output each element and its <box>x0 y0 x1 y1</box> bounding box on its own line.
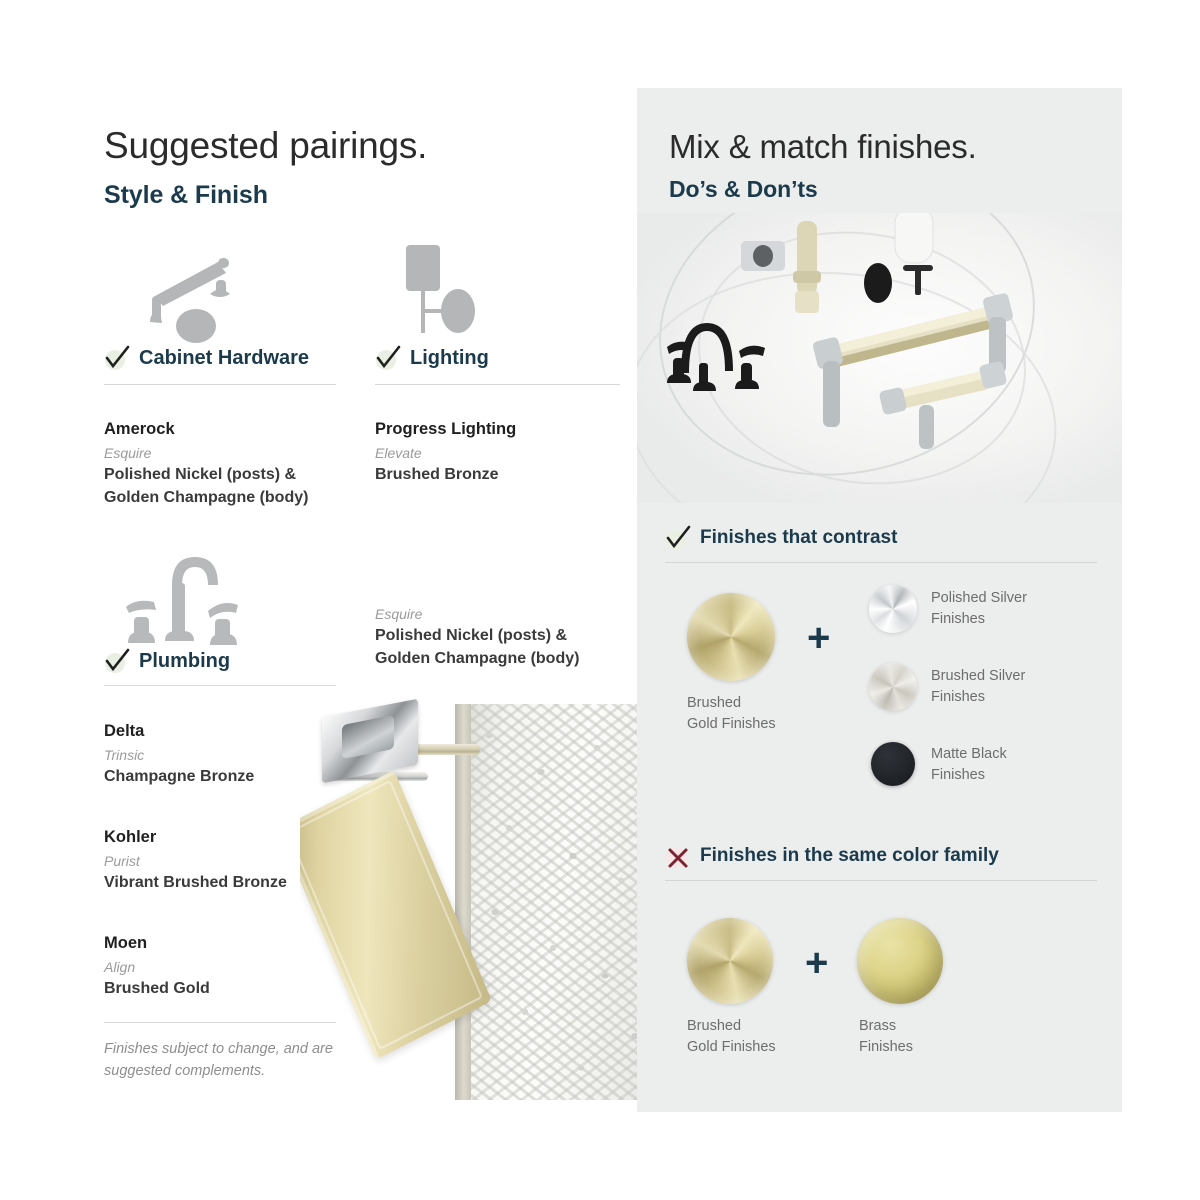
section-label: Finishes that contrast <box>700 527 897 549</box>
brand-series: Elevate <box>375 442 625 464</box>
left-subtitle: Style & Finish <box>104 181 268 210</box>
swatch-caption: Brushed Silver Finishes <box>931 666 1071 708</box>
hero-photo <box>637 213 1122 503</box>
right-panel: Mix & match finishes. Do’s & Don’ts <box>637 88 1122 1112</box>
right-title: Mix & match finishes. <box>669 128 977 166</box>
check-icon <box>375 345 401 371</box>
category-cabinet-hardware[interactable]: Cabinet Hardware <box>104 345 309 371</box>
divider <box>665 562 1097 563</box>
left-title: Suggested pairings. <box>104 125 427 167</box>
brand-amerock: Amerock Esquire Polished Nickel (posts) … <box>104 418 354 510</box>
category-label: Lighting <box>410 347 489 370</box>
cabinet-pull-icon <box>122 248 252 353</box>
brand-name: Amerock <box>104 418 354 442</box>
swatch-caption: Brushed Gold Finishes <box>687 1016 807 1058</box>
brand-finish: Polished Nickel (posts) & Golden Champag… <box>375 625 625 670</box>
brand-finish: Brushed Bronze <box>375 464 625 487</box>
swatch-caption: Brushed Gold Finishes <box>687 693 807 735</box>
divider <box>665 880 1097 881</box>
right-subtitle: Do’s & Don’ts <box>669 176 818 203</box>
swatch-polished-silver[interactable] <box>869 585 917 633</box>
swatch-brushed-gold[interactable] <box>687 593 775 681</box>
infographic-root: Suggested pairings. Style & Finish <box>0 0 1200 1200</box>
brand-series: Esquire <box>375 603 625 625</box>
swatch-brushed-gold[interactable] <box>687 918 773 1004</box>
check-icon <box>104 648 130 674</box>
swatch-caption: Matte Black Finishes <box>931 744 1071 786</box>
swatch-matte-black[interactable] <box>871 742 915 786</box>
cabinet-t-pull-small <box>879 361 1008 449</box>
category-label: Plumbing <box>139 650 230 673</box>
towel-texture <box>465 704 640 1100</box>
section-label: Finishes in the same color family <box>700 845 999 867</box>
towel-bar-photo <box>300 668 640 1100</box>
brand-name: Progress Lighting <box>375 418 625 442</box>
towel-edge <box>455 704 471 1100</box>
swatch-caption: Polished Silver Finishes <box>931 588 1071 630</box>
divider <box>375 384 620 385</box>
swatch-caption: Brass Finishes <box>859 1016 979 1058</box>
wall-sconce-icon <box>398 243 493 353</box>
category-label: Cabinet Hardware <box>139 347 309 370</box>
divider <box>104 384 336 385</box>
swatch-brushed-silver[interactable] <box>869 663 917 711</box>
brand-esquire-secondary: Esquire Polished Nickel (posts) & Golden… <box>375 603 625 671</box>
section-header-same-family[interactable]: Finishes in the same color family <box>665 843 999 869</box>
section-header-contrast[interactable]: Finishes that contrast <box>665 525 897 551</box>
category-lighting[interactable]: Lighting <box>375 345 489 371</box>
plus-operator: + <box>805 943 828 983</box>
category-plumbing[interactable]: Plumbing <box>104 648 230 674</box>
faucet-icon <box>112 545 247 655</box>
swatch-brass[interactable] <box>857 918 943 1004</box>
plus-operator: + <box>807 618 830 658</box>
check-icon <box>665 525 691 551</box>
cross-icon <box>665 843 691 869</box>
check-icon <box>104 345 130 371</box>
brand-series: Esquire <box>104 442 354 464</box>
cabinet-bar-pull-large <box>812 292 1014 427</box>
matte-black-faucet <box>667 263 892 391</box>
brand-progress-lighting: Progress Lighting Elevate Brushed Bronze <box>375 418 625 487</box>
left-panel: Suggested pairings. Style & Finish <box>0 0 637 1200</box>
brand-finish: Polished Nickel (posts) & Golden Champag… <box>104 464 354 509</box>
